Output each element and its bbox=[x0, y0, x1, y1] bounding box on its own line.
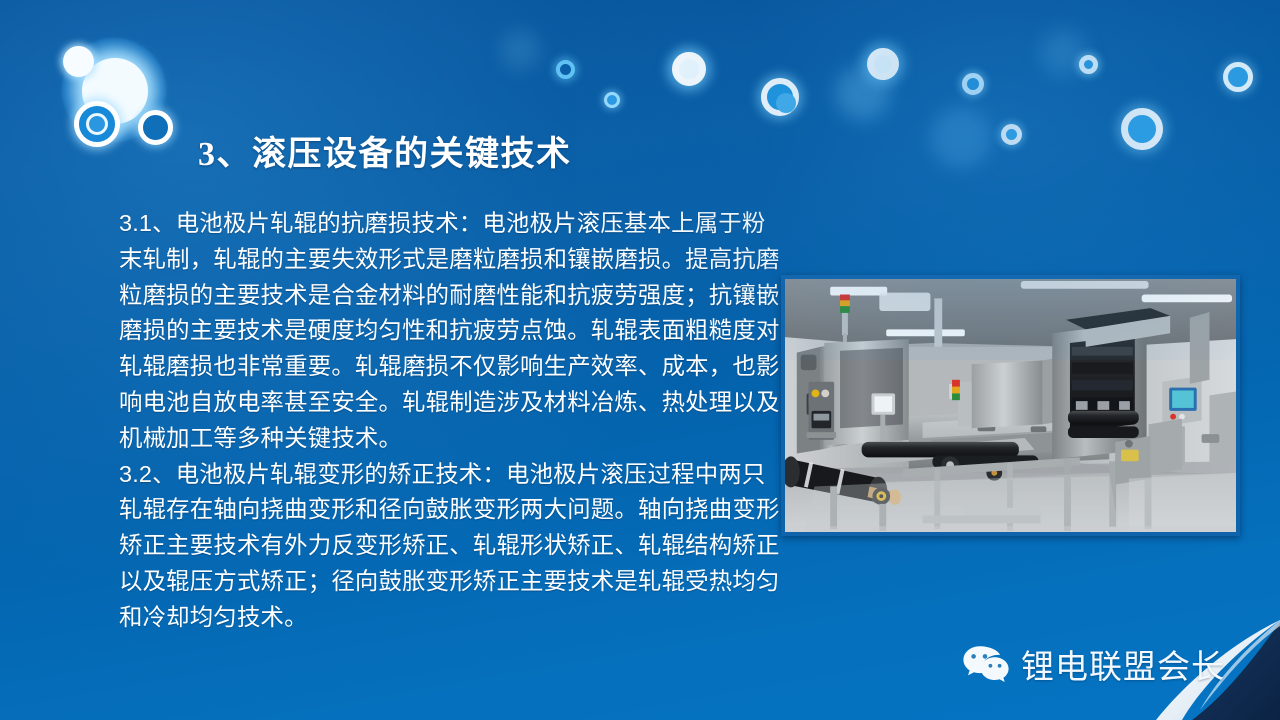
decorative-bubble bbox=[761, 78, 799, 116]
decorative-bubble bbox=[1121, 108, 1163, 150]
decorative-bubble bbox=[556, 60, 575, 79]
decorative-glow bbox=[1040, 30, 1086, 76]
body-text-block: 3.1、电池极片轧辊的抗磨损技术：电池极片滚压基本上属于粉末轧制，轧辊的主要失效… bbox=[119, 206, 784, 636]
decorative-bubble bbox=[776, 93, 796, 113]
page-title: 3、滚压设备的关键技术 bbox=[198, 126, 572, 175]
body-paragraph: 3.2、电池极片轧辊变形的矫正技术：电池极片滚压过程中两只轧辊存在轴向挠曲变形和… bbox=[119, 457, 784, 636]
decorative-bubble bbox=[138, 110, 173, 145]
decorative-bubble bbox=[1001, 124, 1022, 145]
decorative-bubble bbox=[82, 58, 148, 124]
decorative-bubble bbox=[1223, 62, 1253, 92]
slide-canvas: 3、滚压设备的关键技术 3.1、电池极片轧辊的抗磨损技术：电池极片滚压基本上属于… bbox=[0, 0, 1280, 720]
watermark: 锂电联盟会长 bbox=[962, 636, 1225, 692]
decorative-bubble bbox=[74, 101, 120, 147]
body-paragraph: 3.1、电池极片轧辊的抗磨损技术：电池极片滚压基本上属于粉末轧制，轧辊的主要失效… bbox=[119, 206, 784, 457]
decorative-bubble bbox=[86, 113, 108, 135]
decorative-bubble bbox=[62, 38, 166, 142]
decorative-glow bbox=[500, 30, 540, 70]
decorative-glow bbox=[836, 66, 890, 120]
decorative-glow bbox=[931, 108, 991, 168]
decorative-bubble bbox=[1079, 55, 1098, 74]
decorative-bubble bbox=[63, 46, 94, 77]
watermark-label: 锂电联盟会长 bbox=[1021, 640, 1225, 688]
decorative-bubble bbox=[604, 92, 620, 108]
decorative-bubble bbox=[962, 73, 984, 95]
decorative-bubble bbox=[672, 52, 706, 86]
decorative-bubble bbox=[867, 48, 899, 80]
wechat-icon bbox=[962, 644, 1010, 684]
battery-electrode-calendering-machine-photo bbox=[781, 275, 1240, 536]
